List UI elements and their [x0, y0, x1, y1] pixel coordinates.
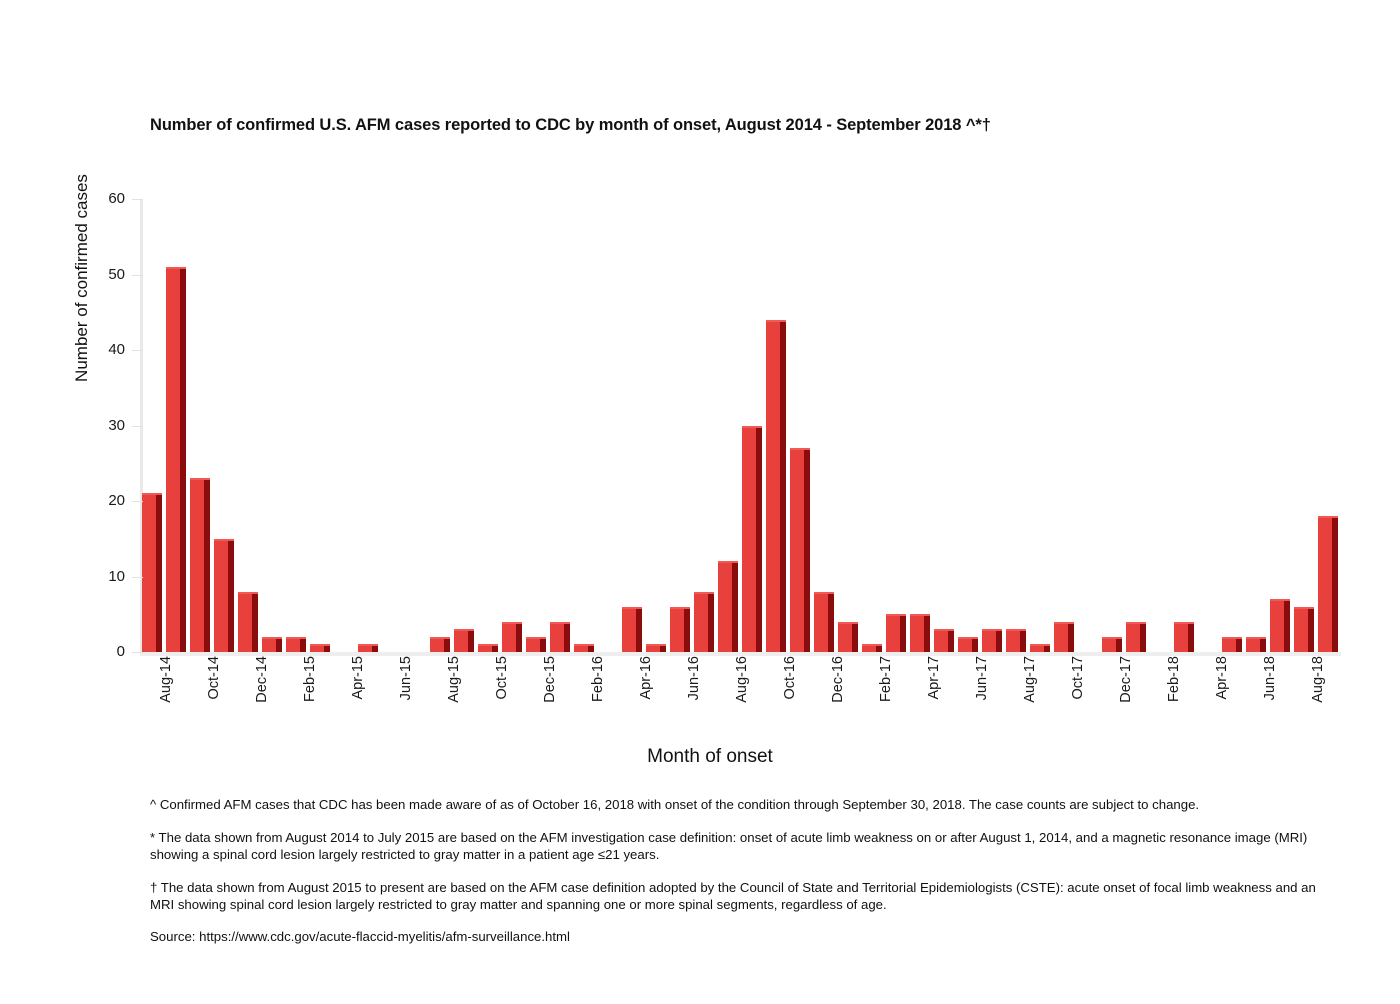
bar-body	[1102, 637, 1121, 652]
bar-Oct-16[interactable]	[766, 199, 785, 652]
bar-body	[526, 637, 545, 652]
bar-body	[718, 561, 737, 652]
x-tick-label-Aug-14: Aug-14	[158, 656, 174, 703]
y-tick-label-20: 20	[85, 493, 125, 508]
bar-Dec-14[interactable]	[238, 199, 257, 652]
y-tick-label-30: 30	[85, 418, 125, 433]
bar-body	[958, 637, 977, 652]
chart-canvas: Number of confirmed U.S. AFM cases repor…	[0, 0, 1400, 1004]
bar-shade	[444, 637, 449, 652]
x-tick-label-Feb-18: Feb-18	[1166, 656, 1182, 702]
bar-body	[1054, 622, 1073, 652]
x-tick-label-Apr-16: Apr-16	[638, 656, 654, 700]
bar-shade	[1236, 637, 1241, 652]
bar-Apr-15[interactable]	[334, 199, 353, 652]
bar-shade	[732, 561, 737, 652]
y-tick-label-0: 0	[85, 644, 125, 659]
y-tick-mark-60	[132, 199, 143, 200]
bar-body	[358, 644, 377, 652]
bar-shade	[228, 539, 233, 652]
bar-highlight	[622, 607, 641, 609]
bar-shade	[156, 493, 161, 652]
bar-body	[286, 637, 305, 652]
y-tick-mark-0	[132, 652, 143, 653]
bar-highlight	[310, 644, 329, 646]
bar-shade	[900, 614, 905, 652]
bar-shade	[804, 448, 809, 652]
bar-highlight	[430, 637, 449, 639]
bar-highlight	[214, 539, 233, 541]
bar-Jan-18[interactable]	[1126, 199, 1145, 652]
bar-body	[886, 614, 905, 652]
bar-Feb-15[interactable]	[286, 199, 305, 652]
bar-highlight	[550, 622, 569, 624]
bar-body	[934, 629, 953, 652]
bar-Aug-14[interactable]	[142, 199, 161, 652]
y-tick-label-60: 60	[85, 191, 125, 206]
bar-shade	[636, 607, 641, 652]
x-tick-label-Dec-17: Dec-17	[1118, 656, 1134, 703]
bar-shade	[180, 267, 185, 652]
footnote-source: Source: https://www.cdc.gov/acute-flacci…	[150, 929, 1325, 946]
bar-Apr-16[interactable]	[622, 199, 641, 652]
y-tick-label-10: 10	[85, 569, 125, 584]
y-tick-label-40: 40	[85, 342, 125, 357]
footnote-caret: ^ Confirmed AFM cases that CDC has been …	[150, 797, 1325, 814]
bar-body	[1318, 516, 1337, 652]
bar-Sep-17[interactable]	[1030, 199, 1049, 652]
bar-Apr-17[interactable]	[910, 199, 929, 652]
x-tick-label-Apr-15: Apr-15	[350, 656, 366, 700]
bar-shade	[540, 637, 545, 652]
bar-body	[814, 592, 833, 652]
bar-Jul-15[interactable]	[406, 199, 425, 652]
bar-shade	[852, 622, 857, 652]
bar-shade	[972, 637, 977, 652]
bar-highlight	[766, 320, 785, 322]
x-tick-label-Feb-15: Feb-15	[302, 656, 318, 702]
footnotes: ^ Confirmed AFM cases that CDC has been …	[150, 797, 1325, 946]
bar-shade	[1020, 629, 1025, 652]
bar-Jan-15[interactable]	[262, 199, 281, 652]
bar-highlight	[454, 629, 473, 631]
bar-Jun-18[interactable]	[1246, 199, 1265, 652]
bar-highlight	[1054, 622, 1073, 624]
bar-highlight	[814, 592, 833, 594]
bar-highlight	[646, 644, 665, 646]
bar-Jun-17[interactable]	[958, 199, 977, 652]
bar-shade	[1140, 622, 1145, 652]
bar-body	[1270, 599, 1289, 652]
bar-Mar-15[interactable]	[310, 199, 329, 652]
bar-Mar-18[interactable]	[1174, 199, 1193, 652]
bar-body	[862, 644, 881, 652]
bar-shade	[564, 622, 569, 652]
x-tick-label-Oct-14: Oct-14	[206, 656, 222, 700]
bar-highlight	[1222, 637, 1241, 639]
bar-shade	[1284, 599, 1289, 652]
bar-Feb-18[interactable]	[1150, 199, 1169, 652]
bar-May-18[interactable]	[1222, 199, 1241, 652]
y-tick-mark-40	[132, 350, 143, 351]
x-tick-label-Oct-15: Oct-15	[494, 656, 510, 700]
x-tick-label-Jun-15: Jun-15	[398, 656, 414, 700]
y-tick-mark-30	[132, 426, 143, 427]
footnote-asterisk: * The data shown from August 2014 to Jul…	[150, 830, 1325, 864]
bar-body	[670, 607, 689, 652]
bar-shade	[1260, 637, 1265, 652]
bar-body	[430, 637, 449, 652]
bar-highlight	[1270, 599, 1289, 601]
bar-body	[166, 267, 185, 652]
bar-highlight	[670, 607, 689, 609]
bar-Jan-16[interactable]	[550, 199, 569, 652]
bar-shade	[1308, 607, 1313, 652]
bar-body	[1006, 629, 1025, 652]
bar-Aug-16[interactable]	[718, 199, 737, 652]
bar-Jun-15[interactable]	[382, 199, 401, 652]
bar-Jul-16[interactable]	[694, 199, 713, 652]
bar-body	[502, 622, 521, 652]
bar-highlight	[262, 637, 281, 639]
y-axis-tick-labels: 0102030405060	[85, 199, 125, 653]
x-tick-label-Jun-17: Jun-17	[974, 656, 990, 700]
bar-highlight	[862, 644, 881, 646]
bar-shade	[828, 592, 833, 652]
bar-body	[694, 592, 713, 652]
bar-shade	[684, 607, 689, 652]
bar-body	[1174, 622, 1193, 652]
bar-highlight	[742, 426, 761, 428]
bar-body	[310, 644, 329, 652]
bar-body	[1030, 644, 1049, 652]
bar-Aug-17[interactable]	[1006, 199, 1025, 652]
bar-Dec-17[interactable]	[1102, 199, 1121, 652]
bar-Apr-18[interactable]	[1198, 199, 1217, 652]
bar-highlight	[1006, 629, 1025, 631]
bar-Sep-18[interactable]	[1318, 199, 1337, 652]
bar-Nov-17[interactable]	[1078, 199, 1097, 652]
bar-highlight	[502, 622, 521, 624]
bar-body	[238, 592, 257, 652]
bar-Jul-18[interactable]	[1270, 199, 1289, 652]
x-axis-tick-labels: Aug-14Oct-14Dec-14Feb-15Apr-15Jun-15Aug-…	[140, 656, 1340, 746]
bar-Nov-16[interactable]	[790, 199, 809, 652]
x-tick-label-Oct-16: Oct-16	[782, 656, 798, 700]
bar-body	[910, 614, 929, 652]
bar-Nov-15[interactable]	[502, 199, 521, 652]
bar-shade	[1116, 637, 1121, 652]
bar-shade	[1332, 516, 1337, 652]
x-tick-label-Apr-18: Apr-18	[1214, 656, 1230, 700]
bar-May-17[interactable]	[934, 199, 953, 652]
bar-shade	[1188, 622, 1193, 652]
y-tick-mark-20	[132, 501, 143, 502]
footnote-dagger: † The data shown from August 2015 to pre…	[150, 880, 1325, 914]
x-tick-label-Aug-16: Aug-16	[734, 656, 750, 703]
bar-shade	[300, 637, 305, 652]
bar-shade	[996, 629, 1001, 652]
x-tick-label-Aug-17: Aug-17	[1022, 656, 1038, 703]
bar-body	[742, 426, 761, 653]
bar-shade	[516, 622, 521, 652]
bar-Feb-17[interactable]	[862, 199, 881, 652]
bar-body	[190, 478, 209, 652]
bar-body	[478, 644, 497, 652]
bar-highlight	[1126, 622, 1145, 624]
bar-shade	[708, 592, 713, 652]
x-tick-label-Aug-18: Aug-18	[1310, 656, 1326, 703]
x-tick-label-Apr-17: Apr-17	[926, 656, 942, 700]
bar-highlight	[358, 644, 377, 646]
bar-Jan-17[interactable]	[838, 199, 857, 652]
x-tick-label-Dec-16: Dec-16	[830, 656, 846, 703]
bar-highlight	[574, 644, 593, 646]
bar-highlight	[166, 267, 185, 269]
bar-highlight	[142, 493, 161, 495]
page-title: Number of confirmed U.S. AFM cases repor…	[150, 116, 1330, 135]
bar-shade	[756, 426, 761, 653]
bar-body	[1294, 607, 1313, 652]
bar-highlight	[718, 561, 737, 563]
bar-body	[550, 622, 569, 652]
bar-highlight	[286, 637, 305, 639]
bar-body	[262, 637, 281, 652]
x-tick-label-Jun-16: Jun-16	[686, 656, 702, 700]
x-tick-label-Dec-15: Dec-15	[542, 656, 558, 703]
bar-highlight	[958, 637, 977, 639]
bar-highlight	[238, 592, 257, 594]
bar-body	[838, 622, 857, 652]
bar-shade	[276, 637, 281, 652]
bar-body	[574, 644, 593, 652]
bar-body	[1126, 622, 1145, 652]
y-tick-mark-50	[132, 275, 143, 276]
bar-shade	[780, 320, 785, 652]
bar-Dec-16[interactable]	[814, 199, 833, 652]
bar-Sep-15[interactable]	[454, 199, 473, 652]
bar-body	[982, 629, 1001, 652]
x-tick-label-Jun-18: Jun-18	[1262, 656, 1278, 700]
bar-body	[454, 629, 473, 652]
x-tick-label-Aug-15: Aug-15	[446, 656, 462, 703]
bar-Aug-18[interactable]	[1294, 199, 1313, 652]
bar-shade	[1068, 622, 1073, 652]
x-axis-title-text: Month of onset	[647, 746, 773, 767]
bar-series	[140, 199, 1340, 652]
bar-highlight	[694, 592, 713, 594]
bar-highlight	[1246, 637, 1265, 639]
bar-highlight	[1294, 607, 1313, 609]
x-tick-label-Dec-14: Dec-14	[254, 656, 270, 703]
bar-Mar-16[interactable]	[598, 199, 617, 652]
y-tick-mark-10	[132, 577, 143, 578]
bar-highlight	[1318, 516, 1337, 518]
bar-body	[1246, 637, 1265, 652]
bar-highlight	[790, 448, 809, 450]
bar-Oct-17[interactable]	[1054, 199, 1073, 652]
bar-Sep-14[interactable]	[166, 199, 185, 652]
bar-Sep-16[interactable]	[742, 199, 761, 652]
x-tick-label-Feb-16: Feb-16	[590, 656, 606, 702]
bar-Mar-17[interactable]	[886, 199, 905, 652]
bar-shade	[468, 629, 473, 652]
x-tick-label-Oct-17: Oct-17	[1070, 656, 1086, 700]
bar-highlight	[838, 622, 857, 624]
x-axis-title: Month of onset	[0, 746, 1400, 768]
bar-May-16[interactable]	[646, 199, 665, 652]
bar-Oct-14[interactable]	[190, 199, 209, 652]
bar-Jul-17[interactable]	[982, 199, 1001, 652]
bar-highlight	[886, 614, 905, 616]
bar-highlight	[526, 637, 545, 639]
bar-body	[1222, 637, 1241, 652]
bar-Dec-15[interactable]	[526, 199, 545, 652]
x-tick-label-Feb-17: Feb-17	[878, 656, 894, 702]
bar-body	[646, 644, 665, 652]
bar-body	[142, 493, 161, 652]
bar-Aug-15[interactable]	[430, 199, 449, 652]
bar-highlight	[1030, 644, 1049, 646]
bar-body	[766, 320, 785, 652]
bar-highlight	[1102, 637, 1121, 639]
bar-body	[214, 539, 233, 652]
bar-body	[790, 448, 809, 652]
bar-shade	[948, 629, 953, 652]
bar-Nov-14[interactable]	[214, 199, 233, 652]
bar-highlight	[982, 629, 1001, 631]
bar-highlight	[190, 478, 209, 480]
bar-shade	[252, 592, 257, 652]
bar-Oct-15[interactable]	[478, 199, 497, 652]
bar-May-15[interactable]	[358, 199, 377, 652]
bar-highlight	[910, 614, 929, 616]
bar-highlight	[1174, 622, 1193, 624]
bar-body	[622, 607, 641, 652]
bar-shade	[204, 478, 209, 652]
bar-highlight	[478, 644, 497, 646]
bar-Feb-16[interactable]	[574, 199, 593, 652]
bar-shade	[924, 614, 929, 652]
bar-highlight	[934, 629, 953, 631]
y-tick-label-50: 50	[85, 267, 125, 282]
bar-Jun-16[interactable]	[670, 199, 689, 652]
